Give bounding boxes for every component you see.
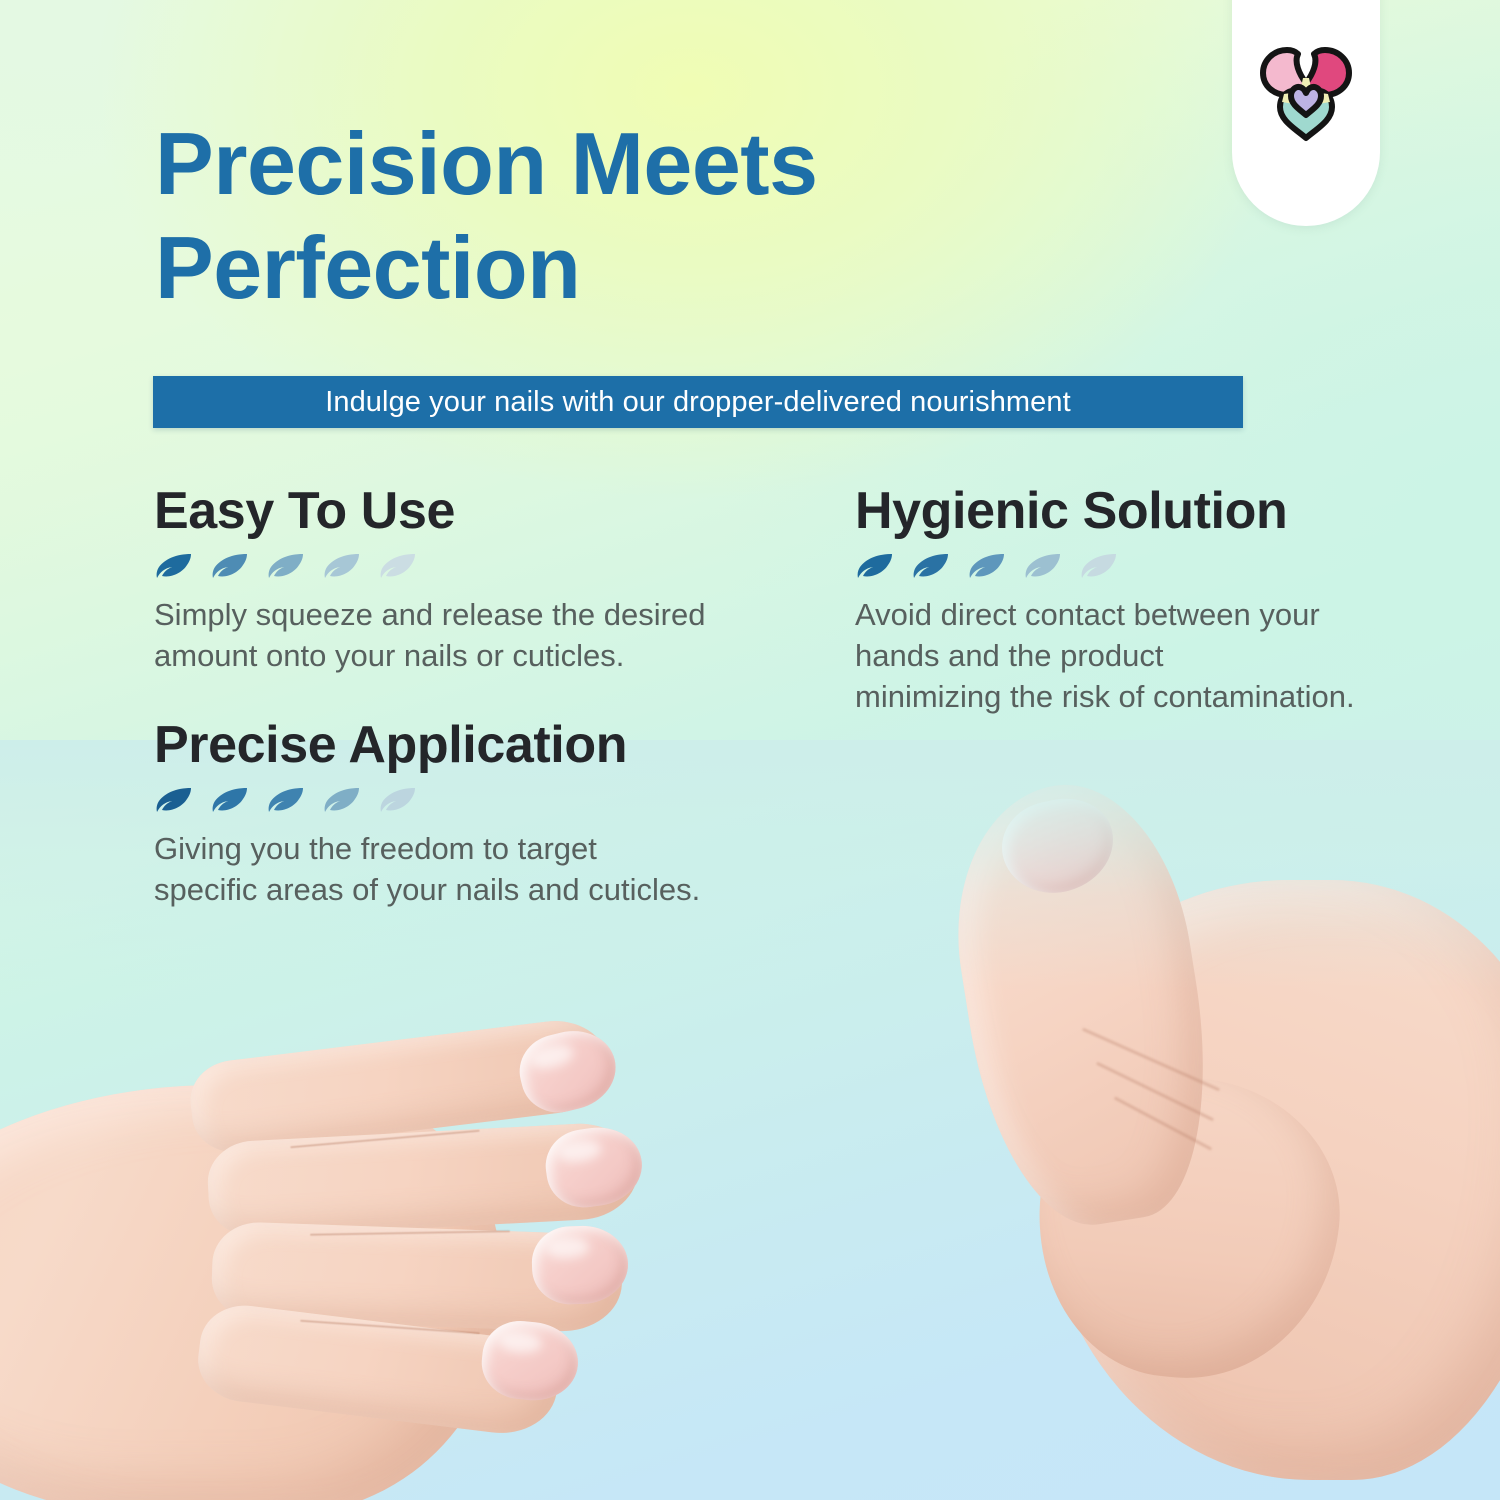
leaf-icon	[857, 553, 893, 579]
leaf-icon	[268, 553, 304, 579]
leaf-icon	[212, 553, 248, 579]
feature-hygienic-solution: Hygienic Solution Avoid direct contact b…	[855, 484, 1475, 718]
feature-body: Avoid direct contact between your hands …	[855, 595, 1475, 718]
flower-hearts-logo-icon	[1254, 42, 1358, 142]
feature-precise-application: Precise Application Giving you the freed…	[154, 718, 814, 911]
leaf-icon	[380, 787, 416, 813]
leaf-icon	[212, 787, 248, 813]
leaf-icon	[268, 787, 304, 813]
leaf-icon	[380, 553, 416, 579]
brand-logo-tab[interactable]	[1232, 0, 1380, 226]
leaf-icon	[324, 787, 360, 813]
feature-easy-to-use: Easy To Use Simply squeeze and release t…	[154, 484, 814, 677]
headline-line-1: Precision Meets	[155, 112, 1155, 216]
leaf-icon	[156, 787, 192, 813]
page-title: Precision Meets Perfection	[155, 112, 1155, 320]
leaf-icon	[324, 553, 360, 579]
leaf-icon	[156, 553, 192, 579]
leaf-rating-hygienic-solution	[857, 553, 1475, 579]
feature-title: Easy To Use	[154, 484, 814, 539]
feature-title: Hygienic Solution	[855, 484, 1475, 539]
leaf-icon	[1081, 553, 1117, 579]
headline-line-2: Perfection	[155, 216, 1155, 320]
leaf-icon	[1025, 553, 1061, 579]
content-layer: Precision Meets Perfection Indulge your …	[0, 0, 1500, 1500]
subtitle-band: Indulge your nails with our dropper-deli…	[153, 376, 1243, 428]
leaf-icon	[913, 553, 949, 579]
leaf-icon	[969, 553, 1005, 579]
subtitle-text: Indulge your nails with our dropper-deli…	[325, 386, 1071, 419]
leaf-rating-easy-to-use	[156, 553, 814, 579]
leaf-rating-precise-application	[156, 787, 814, 813]
feature-body: Simply squeeze and release the desired a…	[154, 595, 814, 677]
feature-body: Giving you the freedom to target specifi…	[154, 829, 814, 911]
feature-title: Precise Application	[154, 718, 814, 773]
